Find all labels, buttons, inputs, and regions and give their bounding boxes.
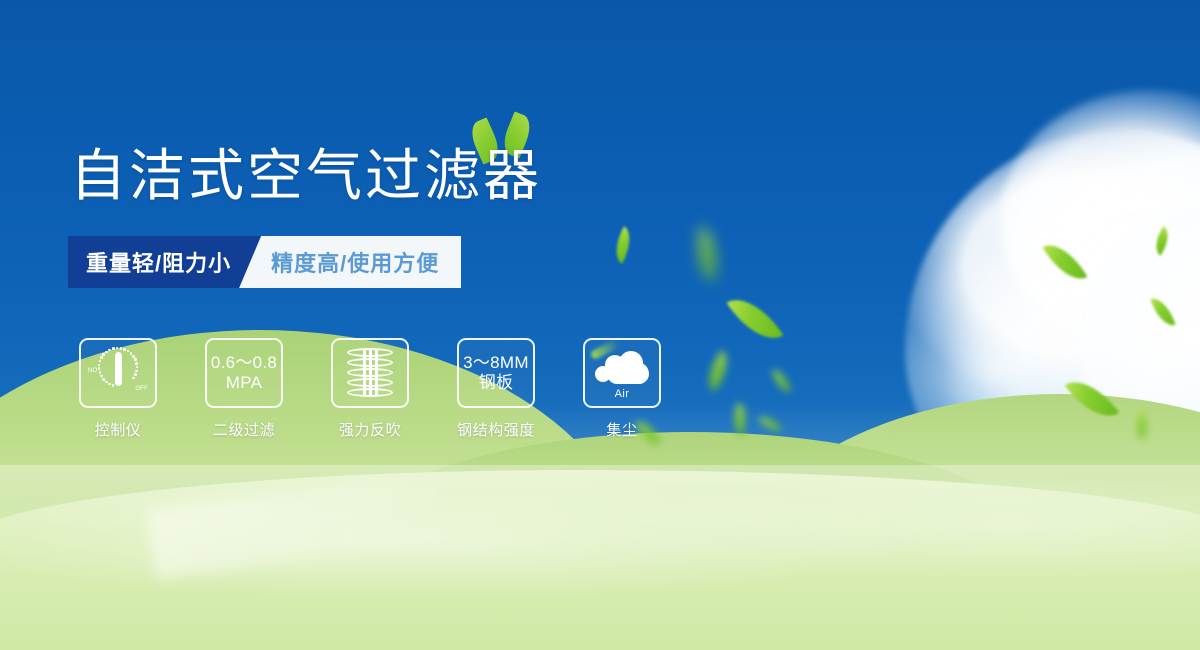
gauge-tick	[132, 355, 135, 358]
gauge-tick	[105, 351, 108, 354]
gauge-label-off: OFF	[135, 386, 148, 392]
cloud-air-icon: Air	[593, 348, 651, 398]
gauge-tick	[132, 377, 135, 380]
banner-content: 自洁式空气过滤器 重量轻/阻力小 精度高/使用方便 NO OFF 控制仪	[0, 0, 1200, 650]
feature-label: 二级过滤	[213, 419, 275, 440]
gauge-tick	[102, 378, 105, 381]
feature-icon-box: 0.6～0.8 MPA	[205, 338, 283, 408]
feature-label: 集尘	[606, 419, 637, 440]
subtitle-tag-primary: 重量轻/阻力小	[68, 236, 261, 288]
pressure-unit: MPA	[226, 373, 262, 393]
gauge-tick	[127, 350, 130, 353]
steel-thickness: 3～8MM	[463, 353, 529, 373]
gauge-tick	[100, 356, 103, 359]
coil-bar	[369, 350, 372, 396]
gauge-tick	[99, 371, 102, 374]
cloud-body	[607, 362, 649, 384]
gauge-needle	[115, 352, 122, 386]
gauge-tick	[116, 347, 119, 350]
gauge-tick	[123, 348, 126, 351]
gauge-tick	[105, 381, 108, 384]
gauge-tick	[108, 383, 111, 386]
product-banner: 自洁式空气过滤器 重量轻/阻力小 精度高/使用方便 NO OFF 控制仪	[0, 0, 1200, 650]
feature-item-dust-collection[interactable]: Air 集尘	[574, 338, 670, 440]
air-label: Air	[593, 388, 651, 400]
feature-item-steel-strength[interactable]: 3～8MM 钢板 钢结构强度	[448, 338, 544, 440]
gauge-tick	[135, 362, 138, 365]
gauge-tick	[102, 353, 105, 356]
gauge-tick	[98, 364, 101, 367]
gauge-tick	[136, 366, 139, 369]
gauge-tick	[134, 358, 137, 361]
feature-item-two-stage-filter[interactable]: 0.6～0.8 MPA 二级过滤	[196, 338, 292, 440]
pressure-value: 0.6～0.8	[211, 353, 277, 373]
gauge-tick	[120, 347, 123, 350]
gauge-icon: NO OFF	[89, 346, 147, 400]
subtitle-tag-secondary: 精度高/使用方便	[239, 236, 461, 288]
feature-icon-box: 3～8MM 钢板	[457, 338, 535, 408]
gauge-tick	[135, 370, 138, 373]
feature-label: 钢结构强度	[457, 419, 535, 440]
feature-item-backblow[interactable]: 强力反吹	[322, 338, 418, 440]
subtitle-tag-group: 重量轻/阻力小 精度高/使用方便	[68, 236, 461, 288]
coil-bar	[375, 350, 378, 396]
steel-material: 钢板	[479, 373, 514, 393]
gauge-tick	[112, 347, 115, 350]
gauge-label-no: NO	[88, 368, 97, 374]
gauge-tick	[108, 349, 111, 352]
coil-bar	[363, 350, 366, 396]
feature-icon-box: NO OFF	[79, 338, 157, 408]
feature-icon-box	[331, 338, 409, 408]
gauge-tick	[98, 367, 101, 370]
gauge-tick	[100, 375, 103, 378]
feature-icon-box: Air	[583, 338, 661, 408]
feature-item-controller[interactable]: NO OFF 控制仪	[70, 338, 166, 440]
page-title: 自洁式空气过滤器	[70, 144, 542, 208]
gauge-tick	[99, 360, 102, 363]
feature-label: 控制仪	[95, 419, 142, 440]
gauge-tick	[112, 384, 115, 387]
coil-filter-icon	[347, 348, 393, 398]
gauge-tick	[134, 373, 137, 376]
feature-list: NO OFF 控制仪 0.6～0.8 MPA 二级过滤	[70, 338, 670, 440]
feature-label: 强力反吹	[339, 419, 401, 440]
